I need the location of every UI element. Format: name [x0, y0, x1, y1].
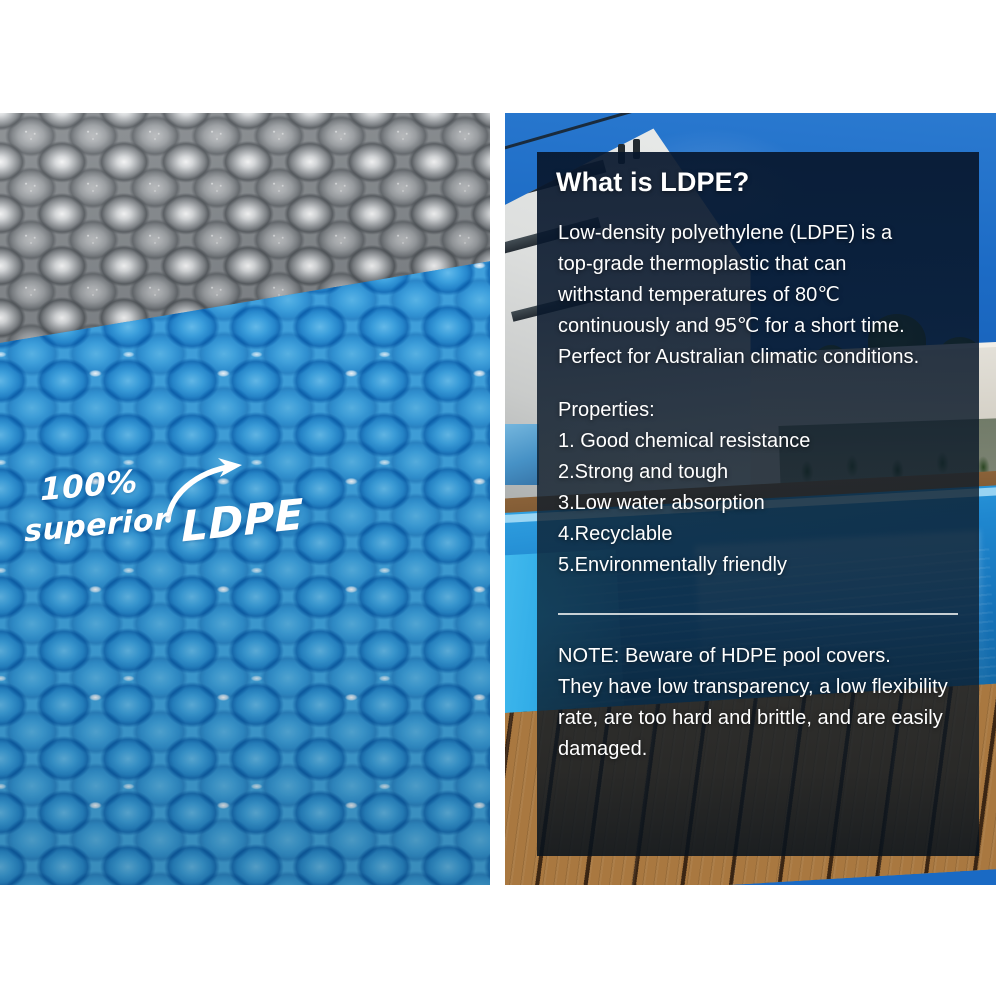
note-paragraph: NOTE: Beware of HDPE pool covers. They h…	[558, 641, 964, 765]
note-line: rate, are too hard and brittle, and are …	[558, 707, 943, 729]
properties-list: 1. Good chemical resistance 2.Strong and…	[558, 426, 964, 581]
note-line: They have low transparency, a low flexib…	[558, 676, 948, 698]
intro-line: top-grade thermoplastic that can	[558, 253, 846, 275]
section-divider	[558, 613, 958, 615]
intro-paragraph: Low-density polyethylene (LDPE) is a top…	[558, 218, 964, 373]
pool-cover-material-photo: 100% superior LDPE	[0, 113, 490, 885]
intro-line: Low-density polyethylene (LDPE) is a	[558, 222, 892, 244]
properties-label: Properties:	[558, 395, 964, 426]
list-item: 3.Low water absorption	[558, 488, 964, 519]
note-line: damaged.	[558, 738, 647, 760]
list-item: 1. Good chemical resistance	[558, 426, 964, 457]
list-item: 4.Recyclable	[558, 519, 964, 550]
window-glass	[505, 424, 539, 485]
intro-line: withstand temperatures of 80℃	[558, 284, 840, 306]
list-item: 2.Strong and tough	[558, 457, 964, 488]
note-line: NOTE: Beware of HDPE pool covers.	[558, 645, 891, 667]
infographic-canvas: 100% superior LDPE	[0, 0, 1000, 1000]
list-item: 5.Environmentally friendly	[558, 550, 964, 581]
intro-line: continuously and 95℃ for a short time.	[558, 315, 905, 337]
ldpe-info-panel: What is LDPE? Low-density polyethylene (…	[505, 113, 996, 885]
intro-line: Perfect for Australian climatic conditio…	[558, 346, 919, 368]
ldpe-info-content: What is LDPE? Low-density polyethylene (…	[556, 168, 964, 765]
page-title: What is LDPE?	[556, 168, 964, 198]
